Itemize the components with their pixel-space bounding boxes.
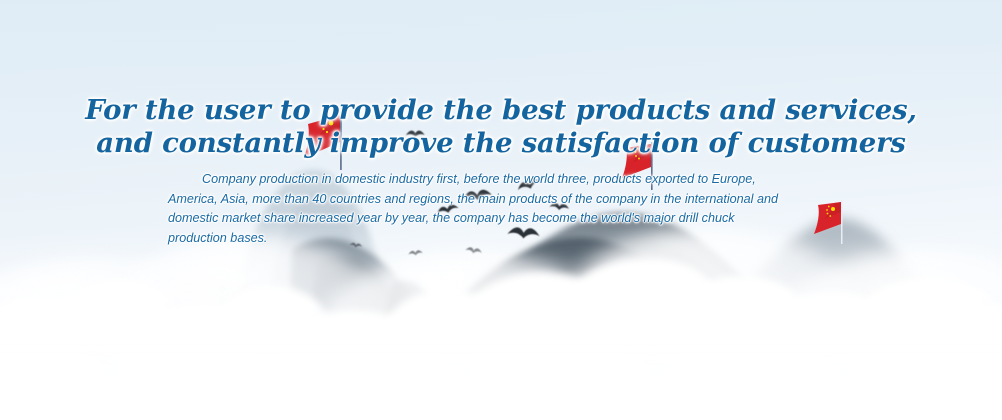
page-title: For the user to provide the best product… [0,94,1002,160]
ridge-right-tail [742,301,1002,420]
hero-text-block: For the user to provide the best product… [0,94,1002,248]
cliff-near-left [288,238,436,420]
ridge-far-left [40,281,330,352]
hero-banner: For the user to provide the best product… [0,0,1002,420]
headline-line-2: and constantly improve the satisfaction … [0,127,1002,160]
headline-line-1: For the user to provide the best product… [0,94,1002,127]
cloud-floor [0,330,1002,420]
ridge-near-center [424,238,742,420]
rock-column-center [382,281,452,420]
bird-8 [408,250,423,256]
hero-paragraph: Company production in domestic industry … [168,170,784,248]
